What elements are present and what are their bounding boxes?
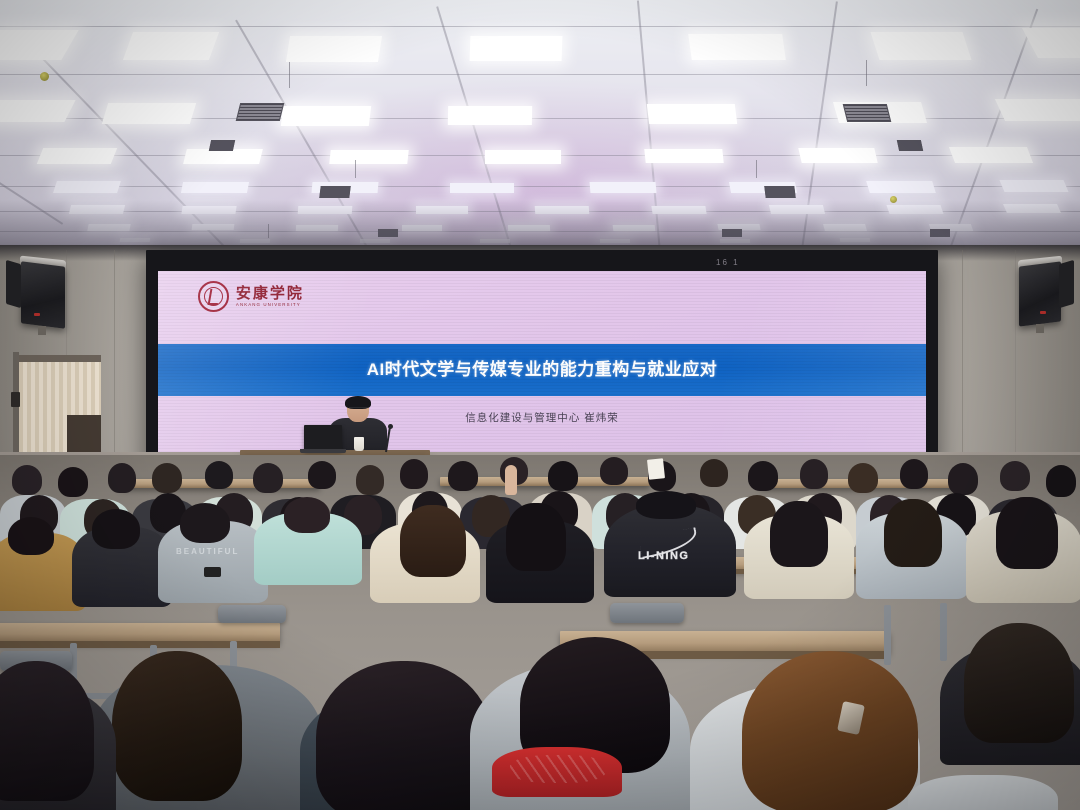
ceiling-air-vent (764, 186, 795, 198)
chair-back (610, 603, 684, 623)
ceiling-light-panel (949, 147, 1033, 163)
speaker-led-indicator (34, 313, 40, 316)
wall-speaker-left-side (6, 260, 21, 308)
audience-head (848, 463, 878, 493)
audience-head (8, 517, 54, 555)
hoodie-text: BEAUTIFUL (176, 547, 239, 556)
lecture-hall-photo: 16 1 安康学院 ANKANG UNIVERSITY AI时代文学与传媒专业的… (0, 0, 1080, 810)
ceiling-light-panel (470, 36, 563, 61)
ceiling-air-vent (236, 103, 284, 121)
slide-header-area: 安康学院 ANKANG UNIVERSITY (158, 271, 926, 344)
audience-head (284, 497, 330, 533)
desk-row-near (0, 623, 280, 643)
audience-hair-long (964, 623, 1074, 743)
ceiling-light-panel (53, 181, 121, 193)
audience-head (400, 459, 428, 489)
ceiling-air-vent (843, 104, 891, 122)
door-switch-plate[interactable] (11, 392, 20, 407)
microphone-head (388, 424, 393, 429)
speaker-led-indicator (1040, 311, 1046, 314)
audience-hair-auburn (742, 651, 918, 810)
laptop-base (300, 449, 346, 453)
mobile-phone[interactable] (204, 567, 221, 577)
ceiling (0, 0, 1080, 258)
audience-head (700, 459, 728, 487)
ceiling-light-panel (870, 32, 971, 60)
presenter-glasses (349, 407, 368, 411)
audience-hair-long (996, 497, 1058, 569)
audience-head (948, 463, 978, 495)
chair-back (218, 605, 286, 623)
ceiling-hanger (866, 60, 867, 86)
ceiling-light-panel (485, 150, 561, 164)
ceiling-light-panel (448, 106, 532, 125)
paper-sheet (647, 458, 665, 480)
ceiling-hanger (756, 160, 757, 178)
ceiling-light-panel (0, 100, 76, 122)
chair-leg (884, 605, 891, 665)
ceiling-light-panel (286, 36, 382, 62)
ceiling-seam (0, 74, 1080, 75)
audience-head (748, 461, 778, 491)
door-header (15, 355, 101, 362)
audience-head (253, 463, 283, 493)
audience-head (900, 459, 928, 489)
ceiling-air-vent (897, 140, 923, 151)
wall-speaker-left (21, 261, 65, 328)
speaker-mount (1036, 324, 1044, 333)
ceiling-light-panel (329, 150, 408, 164)
desk-edge (0, 641, 280, 648)
audience-head (205, 461, 233, 489)
presentation-screen[interactable]: 安康学院 ANKANG UNIVERSITY AI时代文学与传媒专业的能力重构与… (158, 271, 926, 463)
speaker-mount (38, 326, 46, 335)
ceiling-air-vent (319, 186, 350, 198)
audience-head (448, 461, 478, 491)
audience-area: BEAUTIFUL LI-NING (0, 455, 1080, 810)
audience-head (12, 465, 42, 495)
ceiling-light-panel (102, 103, 196, 124)
audience-hair-long (770, 501, 828, 567)
ceiling-light-panel (644, 149, 723, 163)
ceiling-light-panel (181, 182, 249, 193)
ceiling-air-vent (209, 140, 235, 151)
ceiling-seam (0, 26, 1080, 27)
audience-head (600, 457, 628, 485)
audience-head (800, 459, 828, 489)
audience-head (1000, 461, 1030, 491)
lining-brand-text: LI-NING (638, 550, 689, 562)
audience-hair-long (506, 503, 566, 571)
university-seal-icon (198, 281, 229, 312)
slide-title-band: AI时代文学与传媒专业的能力重构与就业应对 (158, 344, 926, 396)
ceiling-light-panel (183, 149, 263, 164)
audience-hair-long (400, 505, 466, 577)
audience-head (548, 461, 578, 491)
slide-title: AI时代文学与传媒专业的能力重构与就业应对 (367, 361, 718, 378)
slide-content: 安康学院 ANKANG UNIVERSITY AI时代文学与传媒专业的能力重构与… (158, 271, 926, 463)
raised-hand (505, 465, 517, 495)
ceiling-light-panel (281, 106, 371, 126)
audience-head (108, 463, 136, 493)
audience-head (152, 463, 182, 493)
smoke-detector-icon (40, 72, 49, 81)
scarf-pattern (510, 755, 606, 783)
audience-hair-long (316, 661, 492, 810)
ceiling-hanger (355, 160, 356, 178)
audience-head (308, 461, 336, 489)
audience-shoulder (908, 775, 1058, 810)
slide-subtitle: 信息化建设与管理中心 崔炜荣 (158, 410, 926, 425)
paper-cup (354, 437, 364, 451)
ceiling-light-panel (995, 99, 1080, 121)
audience-head (636, 491, 696, 519)
university-name-en: ANKANG UNIVERSITY (236, 303, 304, 307)
audience-head (180, 503, 230, 543)
ceiling-light-panel (450, 183, 514, 193)
ceiling-light-panel (0, 30, 79, 60)
audience-head (1046, 465, 1076, 497)
audience-head (356, 465, 384, 495)
university-logo-lockup: 安康学院 ANKANG UNIVERSITY (198, 281, 304, 312)
ceiling-light-panel (798, 148, 877, 163)
audience-head (58, 467, 88, 497)
audience-hair-long (112, 651, 242, 801)
wall-speaker-right-side (1059, 260, 1074, 308)
presenter-laptop[interactable] (304, 425, 342, 451)
ceiling-hanger (289, 62, 290, 88)
ceiling-light-panel (688, 34, 786, 60)
screen-overhead-label: 16 1 (716, 258, 740, 267)
ceiling-light-panel (37, 148, 117, 164)
audience-hair-long (884, 499, 942, 567)
ceiling-light-panel (590, 182, 657, 193)
ceiling-light-panel (647, 104, 737, 124)
ceiling-light-panel (1022, 28, 1080, 58)
ceiling-light-panel (123, 32, 219, 60)
audience-head (92, 509, 140, 549)
university-name-cn: 安康学院 (236, 286, 304, 301)
ceiling-light-panel (999, 180, 1068, 192)
chair-leg (940, 603, 947, 661)
wall-speaker-right (1019, 261, 1061, 326)
ceiling-light-panel (866, 181, 936, 193)
